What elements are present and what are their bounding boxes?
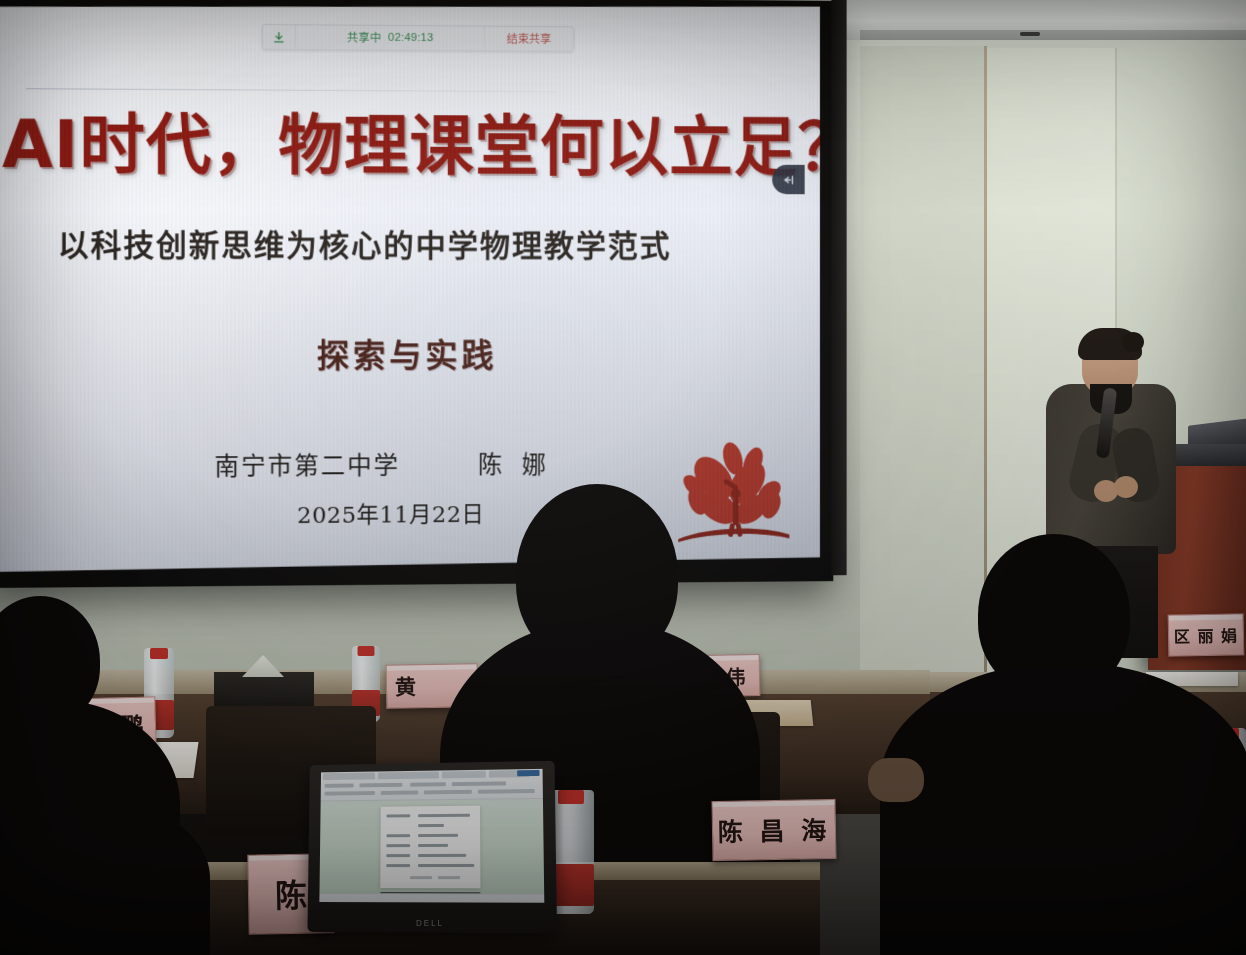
doc-line — [418, 834, 458, 837]
screen-share-toolbar[interactable]: 共享中 02:49:13 结束共享 — [262, 24, 574, 52]
bottle-cap — [358, 646, 375, 656]
nameplate-chenchanghai: 陈 昌 海 — [711, 799, 836, 861]
nameplate-text: 陈 昌 海 — [717, 811, 830, 849]
slide-title: AI时代，物理课堂何以立足？ — [2, 110, 774, 182]
doc-line — [386, 834, 410, 837]
slide-section-heading: 探索与实践 — [317, 329, 498, 377]
status-bar — [319, 893, 544, 903]
nameplate-fold — [1169, 614, 1243, 620]
speaker-right-hand — [1114, 476, 1138, 498]
nameplate-fold — [713, 800, 835, 807]
nameplate-oulijuan: 区 丽 娟 — [1168, 613, 1245, 656]
doc-line — [386, 844, 410, 847]
nameplate-text: 区 丽 娟 — [1174, 622, 1239, 647]
app-tab[interactable] — [323, 772, 375, 780]
foreground-laptop[interactable]: DELL — [306, 762, 554, 932]
presentation-room-photo: 共享中 02:49:13 结束共享 AI时代，物理课堂何以立足？ 以科技创新思维… — [0, 0, 1246, 955]
nameplate-fold — [387, 664, 477, 671]
download-icon[interactable] — [263, 25, 296, 49]
share-status-label: 共享中 — [347, 30, 381, 46]
app-ribbon — [321, 769, 543, 802]
doc-line — [418, 824, 444, 827]
nameplate-text: 黄 — [395, 671, 417, 701]
speaker-hair-bun — [1122, 332, 1144, 352]
doc-line — [410, 876, 432, 879]
ribbon-control[interactable] — [381, 791, 418, 795]
app-tab[interactable] — [378, 772, 439, 780]
projection-screen-frame: 共享中 02:49:13 结束共享 AI时代，物理课堂何以立足？ 以科技创新思维… — [0, 0, 833, 588]
doc-line — [418, 814, 470, 817]
ceiling-vent-icon — [1020, 32, 1040, 36]
laptop-brand-label: DELL — [306, 919, 554, 928]
ribbon-badge[interactable] — [517, 770, 539, 776]
projected-slide: 共享中 02:49:13 结束共享 AI时代，物理课堂何以立足？ 以科技创新思维… — [0, 0, 820, 572]
doc-line — [387, 814, 411, 817]
ribbon-control[interactable] — [424, 790, 472, 795]
bottle-cap — [558, 790, 584, 804]
bottle-cap — [150, 648, 168, 659]
end-share-button[interactable]: 结束共享 — [484, 27, 573, 51]
doc-line — [418, 854, 466, 857]
ribbon-control[interactable] — [359, 783, 402, 787]
ribbon-control[interactable] — [325, 784, 354, 788]
doc-line — [438, 876, 460, 879]
doc-line — [386, 864, 410, 867]
screen-glare — [0, 0, 533, 572]
app-tab[interactable] — [442, 771, 486, 779]
ribbon-control[interactable] — [325, 791, 375, 796]
laptop-screen[interactable] — [319, 769, 544, 903]
wall-panel-left — [860, 46, 984, 676]
tree-logo — [674, 437, 791, 545]
slide-presenter-name: 陈 娜 — [478, 446, 552, 482]
share-timer: 02:49:13 — [388, 32, 433, 44]
app-tab-row[interactable] — [323, 770, 541, 780]
doc-line — [386, 854, 410, 857]
slide-subtitle: 以科技创新思维为核心的中学物理教学范式 — [58, 228, 742, 266]
audience-body-right — [880, 662, 1246, 955]
slide-date: 2025年11月22日 — [297, 495, 484, 530]
document-pane[interactable] — [380, 806, 480, 889]
ribbon-control[interactable] — [410, 782, 446, 786]
doc-line — [418, 864, 474, 867]
audience-hand-right — [868, 758, 924, 802]
ribbon-control[interactable] — [478, 789, 535, 794]
collapse-panel-icon[interactable] — [772, 165, 804, 194]
screen-bezel-right — [831, 0, 846, 575]
doc-line — [418, 844, 448, 847]
share-status: 共享中 02:49:13 — [296, 29, 484, 46]
slide-divider — [26, 88, 557, 92]
ribbon-control[interactable] — [452, 781, 506, 786]
nameplate-text: 陈 — [275, 871, 308, 918]
slide-organization: 南宁市第二中学 — [214, 446, 400, 483]
